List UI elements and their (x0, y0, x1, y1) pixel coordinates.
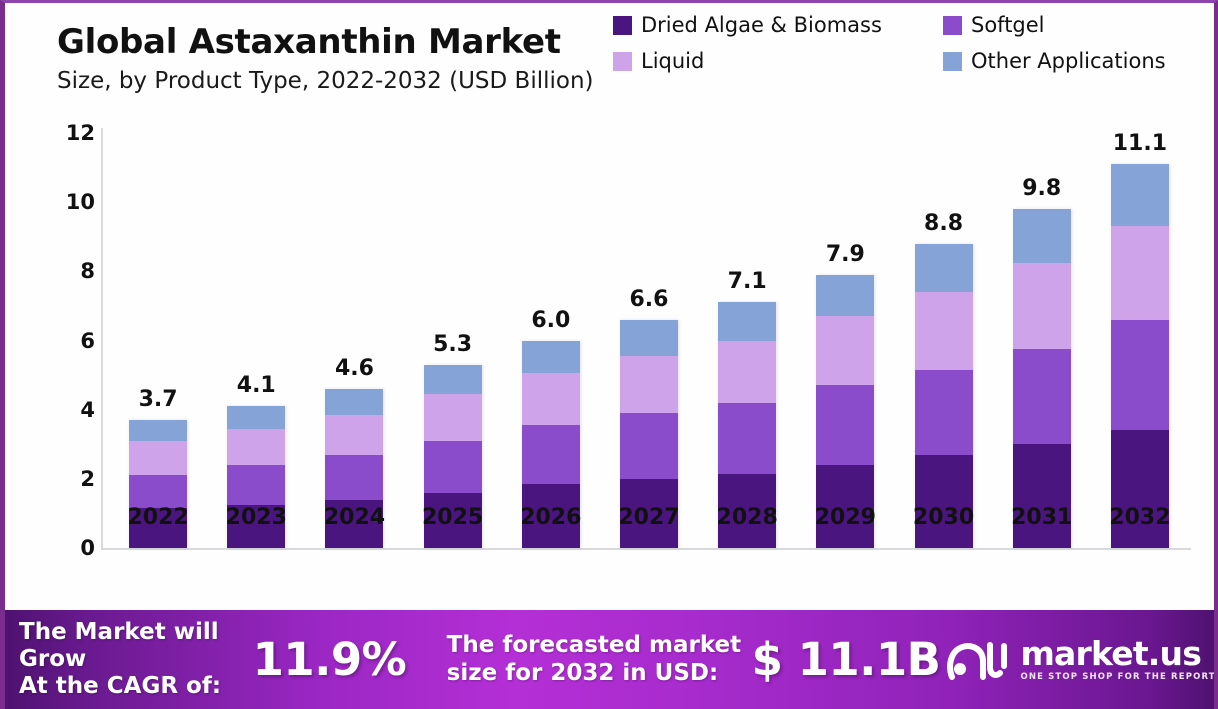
x-axis-tick-label: 2032 (1091, 505, 1189, 530)
bar-total-label: 6.6 (600, 287, 698, 312)
cagr-value: 11.9% (253, 633, 447, 686)
bar-segment[interactable] (325, 415, 383, 455)
bar-segment[interactable] (620, 320, 678, 356)
bar-total-label: 4.1 (207, 373, 305, 398)
bar-segment[interactable] (816, 275, 874, 317)
bar-series-container: 3.720224.120234.620245.320256.020266.620… (109, 3, 1189, 610)
bar-segment[interactable] (1013, 263, 1071, 349)
bar-total-label: 11.1 (1091, 131, 1189, 156)
stacked-bar[interactable] (1111, 164, 1169, 548)
cagr-label: The Market will Grow At the CAGR of: (19, 619, 253, 700)
bar-total-label: 7.1 (698, 269, 796, 294)
bar-group[interactable]: 3.72022 (109, 73, 207, 548)
bar-total-label: 8.8 (894, 211, 992, 236)
logo-tagline: ONE STOP SHOP FOR THE REPORTS (1020, 673, 1218, 682)
bar-segment[interactable] (915, 292, 973, 370)
bar-segment[interactable] (915, 244, 973, 292)
y-axis-tick-labels: 024681012 (35, 3, 95, 610)
bar-total-label: 6.0 (502, 308, 600, 333)
bar-total-label: 7.9 (796, 242, 894, 267)
x-axis-tick-label: 2023 (207, 505, 305, 530)
bar-group[interactable]: 9.82031 (993, 73, 1091, 548)
bar-segment[interactable] (1013, 209, 1071, 263)
x-axis-tick-label: 2026 (502, 505, 600, 530)
bar-total-label: 5.3 (404, 332, 502, 357)
x-axis-tick-label: 2030 (894, 505, 992, 530)
bar-segment[interactable] (816, 385, 874, 465)
bar-segment[interactable] (522, 341, 580, 374)
bar-group[interactable]: 5.32025 (404, 73, 502, 548)
y-axis-tick-label: 2 (35, 467, 95, 491)
logo-name: market.us (1020, 634, 1201, 673)
y-axis-tick-label: 4 (35, 398, 95, 422)
y-axis-line (101, 128, 103, 549)
market-us-logo-icon (946, 637, 1010, 683)
bar-segment[interactable] (424, 394, 482, 441)
bar-segment[interactable] (129, 420, 187, 441)
x-axis-tick-label: 2031 (993, 505, 1091, 530)
bar-group[interactable]: 6.02026 (502, 73, 600, 548)
bar-segment[interactable] (325, 455, 383, 500)
bar-group[interactable]: 8.82030 (894, 73, 992, 548)
bar-segment[interactable] (522, 425, 580, 484)
bar-group[interactable]: 11.12032 (1091, 73, 1189, 548)
bar-segment[interactable] (522, 373, 580, 425)
x-axis-tick-label: 2028 (698, 505, 796, 530)
bar-segment[interactable] (424, 365, 482, 394)
cagr-label-line1: The Market will Grow (19, 619, 253, 673)
bar-group[interactable]: 4.12023 (207, 73, 305, 548)
bar-segment[interactable] (1013, 444, 1071, 548)
bar-segment[interactable] (620, 356, 678, 413)
bar-group[interactable]: 7.92029 (796, 73, 894, 548)
bar-total-label: 3.7 (109, 387, 207, 412)
bar-group[interactable]: 6.62027 (600, 73, 698, 548)
bar-segment[interactable] (227, 406, 285, 428)
bar-segment[interactable] (1111, 164, 1169, 226)
y-axis-tick-label: 8 (35, 259, 95, 283)
bar-segment[interactable] (129, 441, 187, 476)
cagr-label-line2: At the CAGR of: (19, 673, 253, 700)
forecast-label: The forecasted market size for 2032 in U… (447, 632, 744, 686)
logo-wordmark: market.us ONE STOP SHOP FOR THE REPORTS (1020, 637, 1218, 682)
bar-segment[interactable] (227, 465, 285, 505)
y-axis-tick-label: 12 (35, 121, 95, 145)
chart-panel: Global Astaxanthin Market Size, by Produ… (5, 3, 1214, 610)
forecast-label-line2: size for 2032 in USD: (447, 660, 744, 687)
bar-segment[interactable] (915, 455, 973, 548)
bar-segment[interactable] (718, 302, 776, 340)
market-us-logo[interactable]: market.us ONE STOP SHOP FOR THE REPORTS (946, 637, 1218, 683)
bar-segment[interactable] (1111, 320, 1169, 431)
bar-segment[interactable] (129, 475, 187, 508)
y-axis-tick-label: 0 (35, 536, 95, 560)
x-axis-tick-label: 2022 (109, 505, 207, 530)
forecast-label-line1: The forecasted market (447, 632, 744, 659)
bar-group[interactable]: 4.62024 (305, 73, 403, 548)
bar-segment[interactable] (1111, 226, 1169, 319)
bar-segment[interactable] (718, 403, 776, 474)
stacked-bar[interactable] (1013, 209, 1071, 548)
bar-segment[interactable] (816, 316, 874, 385)
x-axis-tick-label: 2024 (305, 505, 403, 530)
bar-segment[interactable] (1013, 349, 1071, 444)
infographic-container: Global Astaxanthin Market Size, by Produ… (0, 0, 1218, 709)
stacked-bar[interactable] (915, 244, 973, 548)
y-axis-tick-label: 6 (35, 329, 95, 353)
bar-total-label: 4.6 (305, 356, 403, 381)
bar-segment[interactable] (915, 370, 973, 455)
bar-group[interactable]: 7.12028 (698, 73, 796, 548)
bar-segment[interactable] (325, 389, 383, 415)
bar-total-label: 9.8 (993, 176, 1091, 201)
bar-segment[interactable] (424, 441, 482, 493)
plot-area: 024681012 3.720224.120234.620245.320256.… (5, 3, 1218, 610)
bar-segment[interactable] (227, 429, 285, 465)
bottom-banner: The Market will Grow At the CAGR of: 11.… (5, 610, 1218, 709)
x-axis-tick-label: 2025 (404, 505, 502, 530)
bar-segment[interactable] (718, 341, 776, 403)
y-axis-tick-label: 10 (35, 190, 95, 214)
bar-segment[interactable] (1111, 430, 1169, 548)
forecast-value: $ 11.1B (752, 633, 941, 686)
bar-segment[interactable] (620, 413, 678, 479)
x-axis-tick-label: 2027 (600, 505, 698, 530)
x-axis-tick-label: 2029 (796, 505, 894, 530)
